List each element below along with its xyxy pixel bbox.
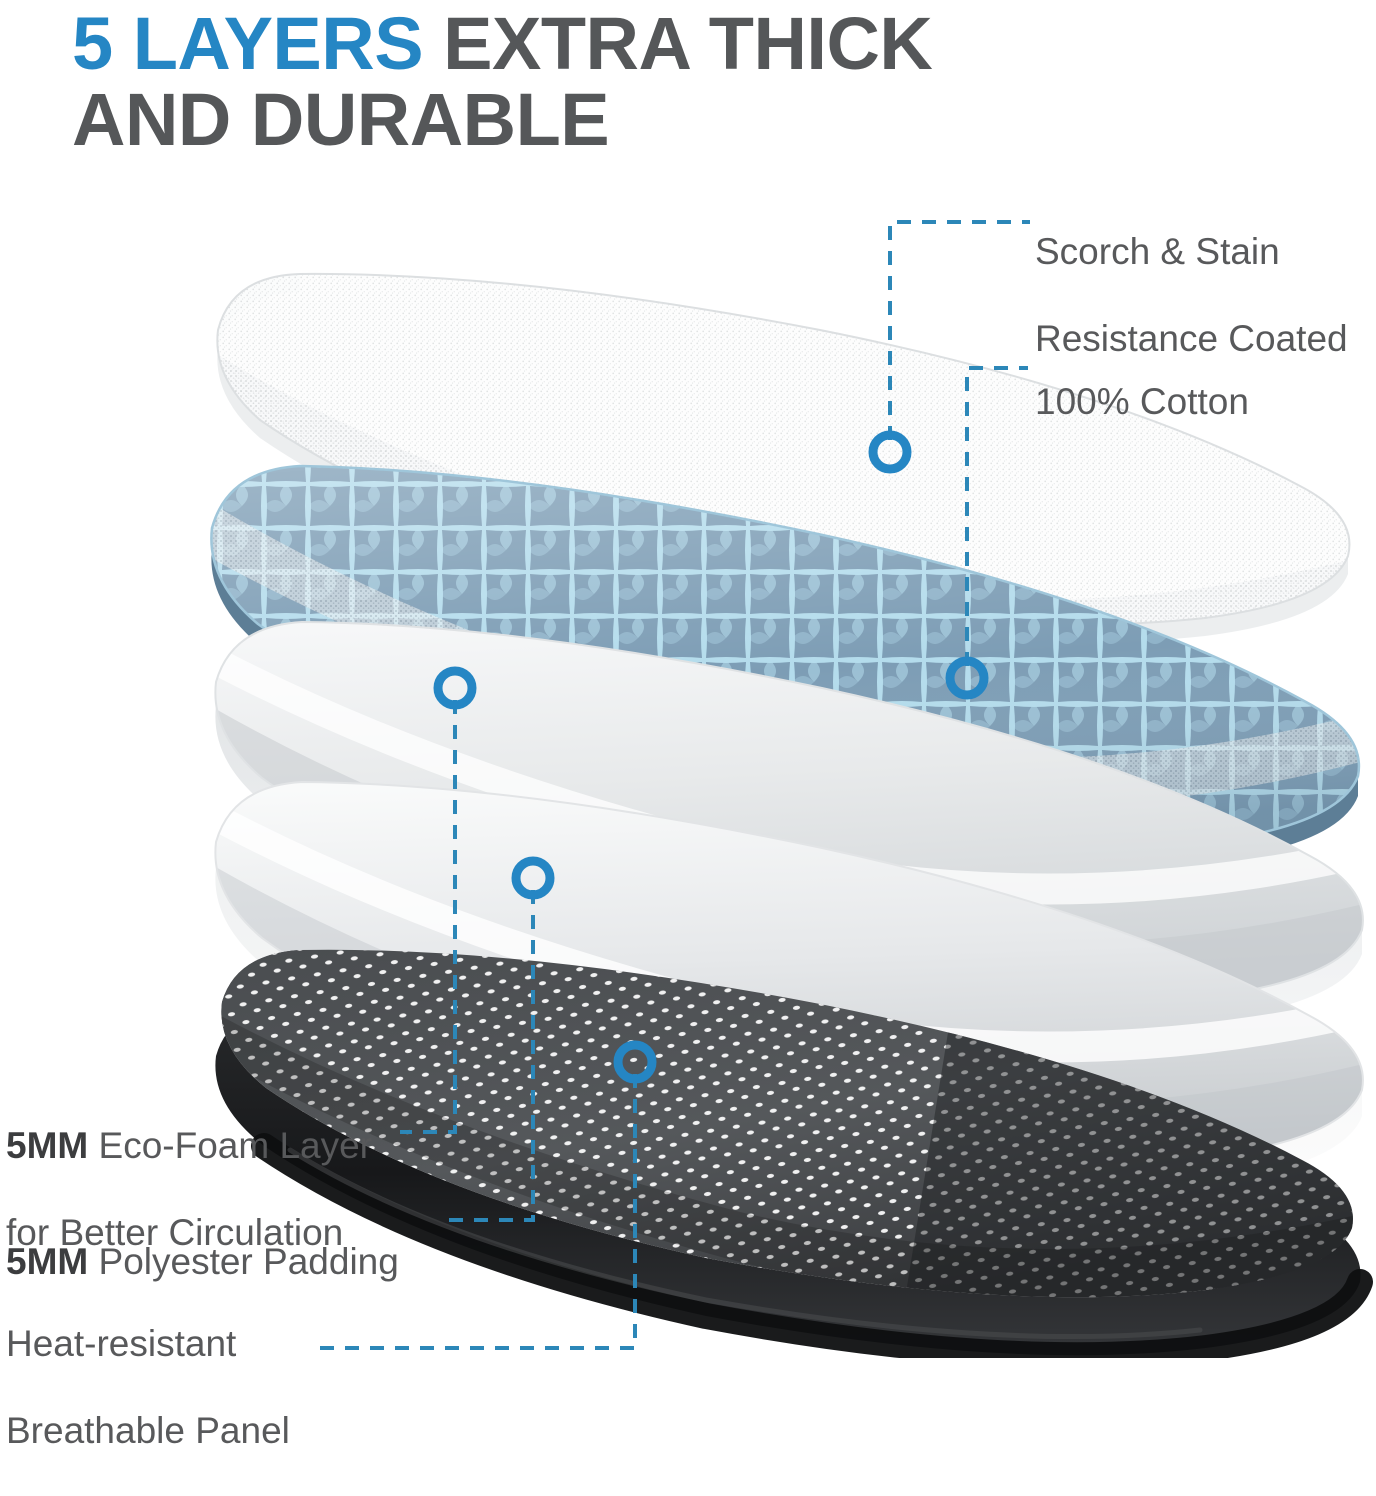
callout-polyester-rest: Polyester Padding xyxy=(88,1241,399,1282)
callout-polyester-strong: 5MM xyxy=(6,1241,88,1282)
callout-scorch-line1: Scorch & Stain xyxy=(1035,230,1376,274)
callout-ecofoam-line1: 5MM Eco-Foam Layer xyxy=(6,1124,436,1168)
callout-polyester-line1: 5MM Polyester Padding xyxy=(6,1240,456,1284)
callout-cotton-line1: 100% Cotton xyxy=(1035,380,1375,424)
infographic-canvas: 5 LAYERS EXTRA THICK AND DURABLE xyxy=(0,0,1376,1358)
callout-ecofoam-strong: 5MM xyxy=(6,1125,88,1166)
callout-label-heat-panel: Heat-resistant Breathable Panel xyxy=(6,1278,446,1496)
callout-label-cotton: 100% Cotton xyxy=(1035,336,1375,467)
callout-ecofoam-rest: Eco-Foam Layer xyxy=(88,1125,372,1166)
callout-heat-line1: Heat-resistant xyxy=(6,1322,446,1366)
callout-heat-line2: Breathable Panel xyxy=(6,1409,446,1453)
